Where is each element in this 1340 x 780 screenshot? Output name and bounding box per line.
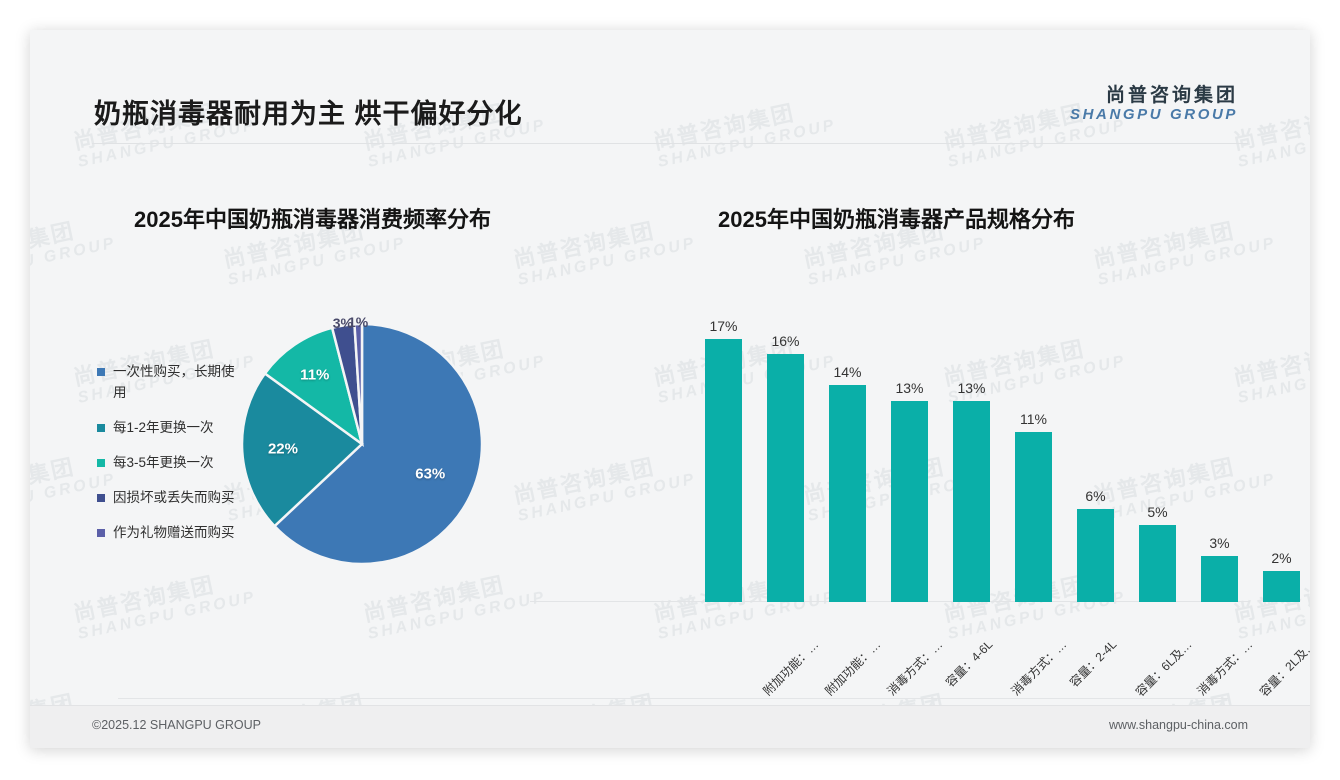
bar-value-label: 3% xyxy=(1209,535,1229,551)
bar-value-label: 11% xyxy=(1020,411,1047,427)
bar-category-label: 容量：2-4L xyxy=(1065,636,1119,690)
slide-card: 尚普咨询集团SHANGPU GROUP尚普咨询集团SHANGPU GROUP尚普… xyxy=(30,30,1310,748)
pie-slice-label: 11% xyxy=(300,366,329,383)
bar-value-label: 16% xyxy=(771,333,799,349)
page-title: 奶瓶消毒器耐用为主 烘干偏好分化 xyxy=(94,92,523,131)
bar-value-label: 6% xyxy=(1085,488,1105,504)
pie-legend-item[interactable]: 作为礼物赠送而购买 xyxy=(97,523,247,544)
bar[interactable] xyxy=(1263,571,1300,602)
bar[interactable] xyxy=(953,401,990,602)
bar-chart-title: 2025年中国奶瓶消毒器产品规格分布 xyxy=(718,202,1075,234)
logo-text-cn: 尚普咨询集团 xyxy=(1070,86,1238,107)
bar-value-label: 2% xyxy=(1271,550,1291,566)
slide-header: 奶瓶消毒器耐用为主 烘干偏好分化 尚普咨询集团 SHANGPU GROUP xyxy=(30,30,1310,122)
bar-value-label: 5% xyxy=(1147,504,1167,520)
bar-category-label: 容量：4-6L xyxy=(941,636,995,690)
bar-value-label: 13% xyxy=(895,380,923,396)
bar[interactable] xyxy=(1015,432,1052,602)
bar-value-label: 17% xyxy=(709,318,737,334)
pie-chart-title: 2025年中国奶瓶消毒器消费频率分布 xyxy=(134,202,491,234)
pie-legend-item[interactable]: 每1-2年更换一次 xyxy=(97,418,247,439)
pie-legend-label: 每1-2年更换一次 xyxy=(113,418,214,439)
bar-category-label: 附加功能：… xyxy=(821,636,884,699)
pie-legend-label: 每3-5年更换一次 xyxy=(113,453,214,474)
pie-legend-label: 一次性购买，长期使用 xyxy=(113,362,247,404)
bar-category-label: 容量：2L及… xyxy=(1255,636,1310,700)
bar[interactable] xyxy=(1201,556,1238,602)
bar[interactable] xyxy=(705,339,742,602)
legend-swatch-icon xyxy=(97,424,105,432)
legend-swatch-icon xyxy=(97,494,105,502)
legend-swatch-icon xyxy=(97,459,105,467)
pie-legend: 一次性购买，长期使用每1-2年更换一次每3-5年更换一次因损坏或丢失而购买作为礼… xyxy=(97,362,247,558)
bar[interactable] xyxy=(829,385,866,602)
footnote-divider xyxy=(118,698,1228,699)
bar[interactable] xyxy=(1077,509,1114,602)
website-link[interactable]: www.shangpu-china.com xyxy=(1109,718,1248,732)
pie-legend-label: 因损坏或丢失而购买 xyxy=(113,488,235,509)
bar-category-label: 消毒方式：… xyxy=(883,636,946,699)
bar-category-label: 消毒方式：… xyxy=(1193,636,1256,699)
bar-value-label: 13% xyxy=(957,380,985,396)
slide-footer: ©2025.12 SHANGPU GROUP www.shangpu-china… xyxy=(30,705,1310,748)
legend-swatch-icon xyxy=(97,368,105,376)
pie-chart: 63%22%11%3%1% xyxy=(242,324,482,564)
bar-category-label: 消毒方式：… xyxy=(1007,636,1070,699)
bar-chart-panel: 2025年中国奶瓶消毒器产品规格分布 17%附加功能：…16%附加功能：…14%… xyxy=(690,202,1250,672)
pie-slice-label: 63% xyxy=(415,465,445,482)
bar-value-label: 14% xyxy=(833,364,861,380)
pie-slice-label: 1% xyxy=(348,314,368,330)
bar[interactable] xyxy=(767,354,804,602)
pie-legend-item[interactable]: 一次性购买，长期使用 xyxy=(97,362,247,404)
pie-legend-label: 作为礼物赠送而购买 xyxy=(113,523,235,544)
bar[interactable] xyxy=(1139,525,1176,602)
logo-text-en: SHANGPU GROUP xyxy=(1070,107,1238,123)
copyright-text: ©2025.12 SHANGPU GROUP xyxy=(92,718,261,732)
bar[interactable] xyxy=(891,401,928,602)
pie-slice-label: 22% xyxy=(268,440,298,457)
header-divider xyxy=(92,143,1248,144)
pie-legend-item[interactable]: 因损坏或丢失而购买 xyxy=(97,488,247,509)
legend-swatch-icon xyxy=(97,529,105,537)
brand-logo: 尚普咨询集团 SHANGPU GROUP xyxy=(1070,86,1238,123)
pie-legend-item[interactable]: 每3-5年更换一次 xyxy=(97,453,247,474)
bar-chart: 17%附加功能：…16%附加功能：…14%消毒方式：…13%容量：4-6L13%… xyxy=(530,302,1250,674)
bar-category-label: 附加功能：… xyxy=(759,636,822,699)
bar-category-label: 容量：6L及… xyxy=(1131,636,1195,700)
